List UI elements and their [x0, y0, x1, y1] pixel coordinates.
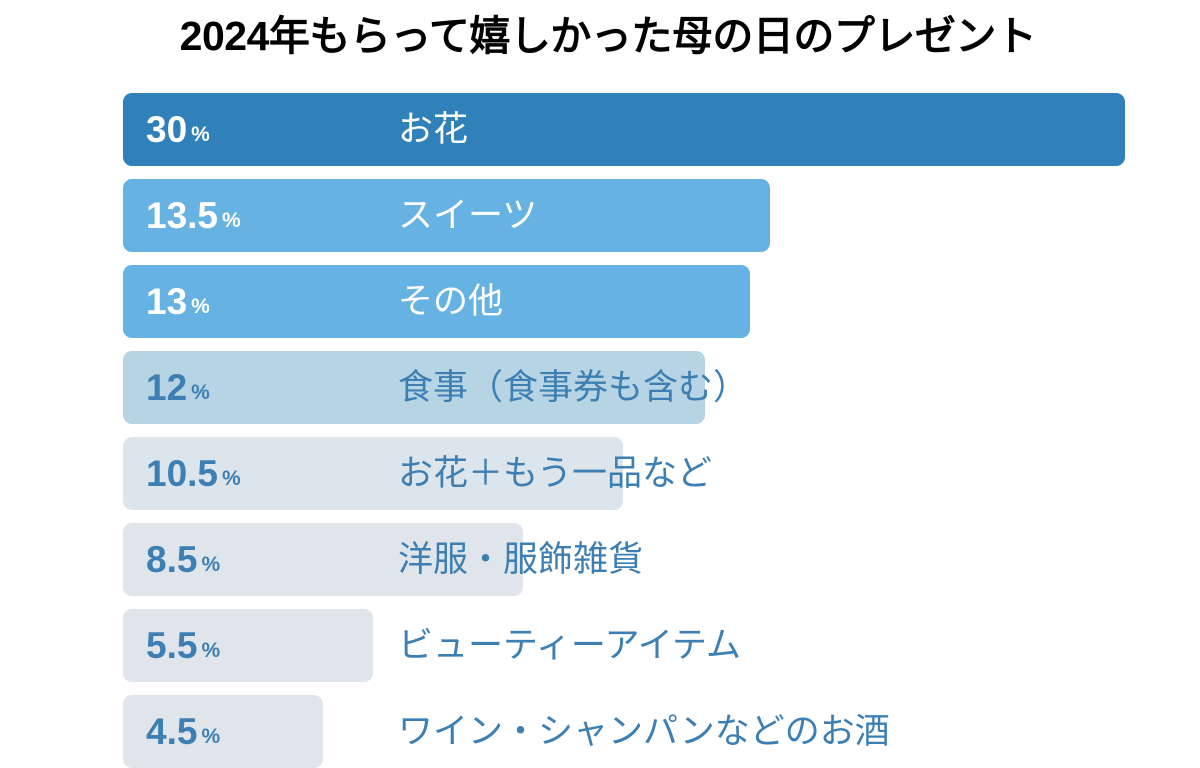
bar-chart-figure: 2024年もらって嬉しかった母の日のプレゼント 30%お花13.5%スイーツ13…: [0, 0, 1200, 768]
bar-fill: [123, 93, 1125, 166]
bar-row: 30%お花: [0, 93, 1200, 166]
bar-category-label: ワイン・シャンパンなどのお酒: [398, 695, 890, 768]
bar-row: 13%その他: [0, 265, 1200, 338]
bar-row: 5.5%ビューティーアイテム: [0, 609, 1200, 682]
bar-list: 30%お花13.5%スイーツ13%その他12%食事（食事券も含む）10.5%お花…: [0, 93, 1200, 768]
bar-fill: [123, 265, 750, 338]
chart-title: 2024年もらって嬉しかった母の日のプレゼント: [0, 13, 1200, 60]
bar-row: 13.5%スイーツ: [0, 179, 1200, 252]
bar-fill: [123, 351, 705, 424]
bar-fill: [123, 523, 523, 596]
bar-category-label: ビューティーアイテム: [398, 609, 741, 682]
bar-fill: [123, 179, 770, 252]
bar-row: 10.5%お花＋もう一品など: [0, 437, 1200, 510]
bar-fill: [123, 609, 373, 682]
bar-row: 8.5%洋服・服飾雑貨: [0, 523, 1200, 596]
bar-row: 12%食事（食事券も含む）: [0, 351, 1200, 424]
bar-fill: [123, 695, 323, 768]
bar-fill: [123, 437, 623, 510]
bar-row: 4.5%ワイン・シャンパンなどのお酒: [0, 695, 1200, 768]
